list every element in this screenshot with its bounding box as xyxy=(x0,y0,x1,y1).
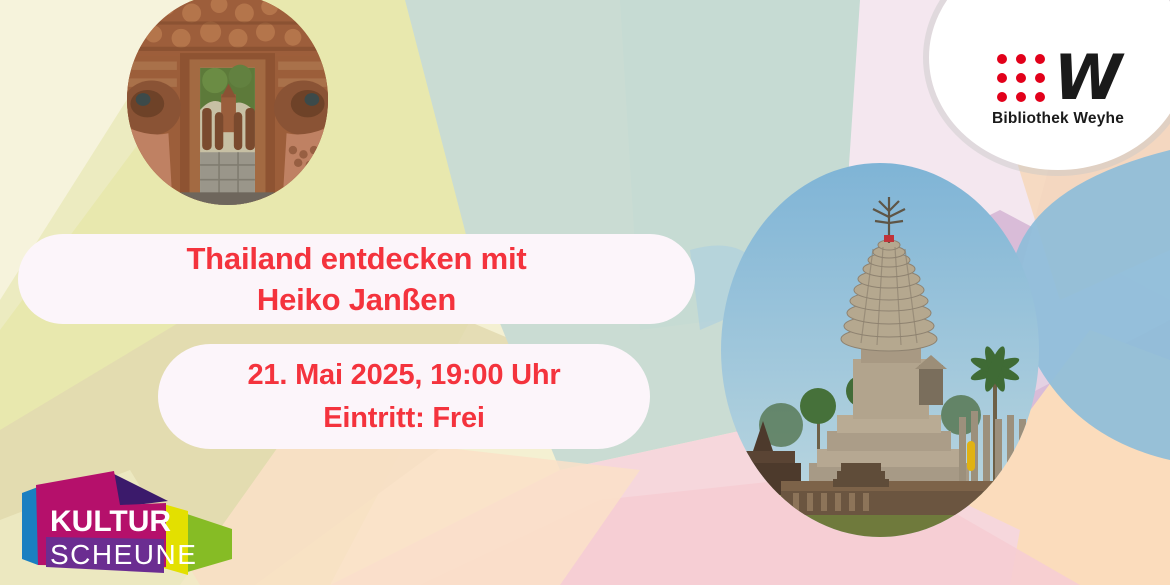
event-admission: Eintritt: Frei xyxy=(323,397,485,440)
thai-temple-prang-photo xyxy=(721,163,1039,537)
event-title-line-2: Heiko Janßen xyxy=(257,279,456,320)
kultur-logo-line-2: SCHEUNE xyxy=(50,539,197,570)
kulturscheune-logo: KULTUR SCHEUNE xyxy=(8,455,256,577)
event-poster: Thailand entdecken mit Heiko Janßen 21. … xyxy=(0,0,1170,585)
event-title-line-1: Thailand entdecken mit xyxy=(186,238,526,279)
library-w-letter: W xyxy=(1054,53,1119,103)
event-title-pill: Thailand entdecken mit Heiko Janßen xyxy=(18,234,695,324)
dot-grid-icon xyxy=(997,54,1045,102)
thai-temple-doorway-photo xyxy=(127,0,328,205)
event-details-pill: 21. Mai 2025, 19:00 Uhr Eintritt: Frei xyxy=(158,344,650,449)
kultur-logo-line-1: KULTUR xyxy=(50,505,171,538)
library-logo-name: Bibliothek Weyhe xyxy=(992,110,1124,128)
library-logo-mark: W xyxy=(997,53,1119,103)
event-date-time: 21. Mai 2025, 19:00 Uhr xyxy=(248,354,561,397)
